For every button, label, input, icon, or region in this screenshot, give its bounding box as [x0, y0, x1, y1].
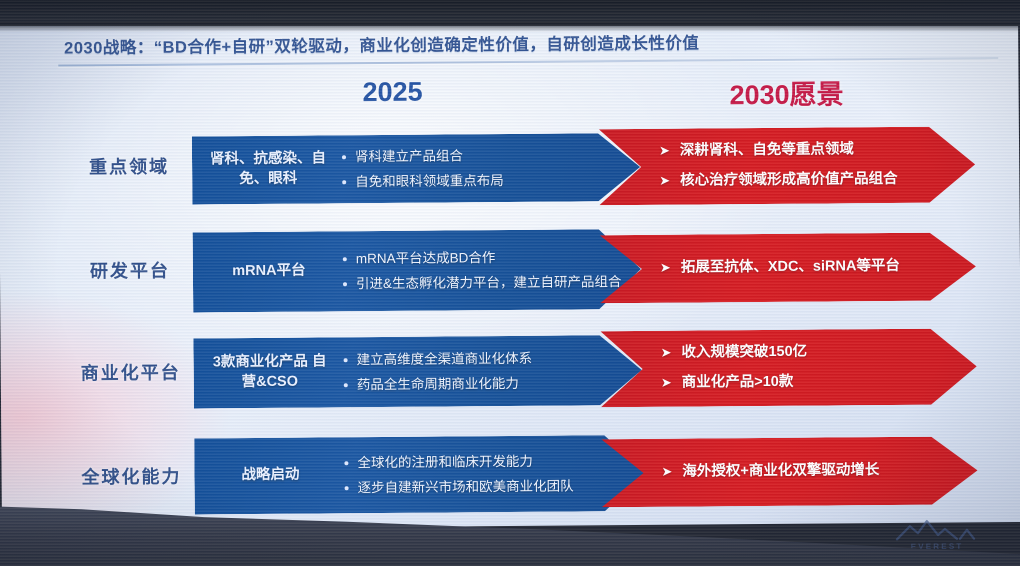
vision-text: 深耕肾科、自免等重点领域 [680, 140, 854, 163]
vision-item: ➤ 拓展至抗体、XDC、siRNA等平台 [660, 255, 976, 279]
arrow-right-icon: ➤ [661, 462, 672, 482]
bullet-item: mRNA平台达成BD合作 [343, 247, 633, 269]
bullet-dot-icon [343, 282, 347, 286]
vision-item: ➤ 核心治疗领域形成高价值产品组合 [659, 168, 975, 192]
red-bar-2030-row2: ➤ 拓展至抗体、XDC、siRNA等平台 [600, 232, 977, 303]
bullet-dot-icon [342, 180, 346, 184]
table-row: 全球化能力 战略启动 全球化的注册和临床开发能力 逐步自建新兴市场和欧美商业化团… [1, 420, 1020, 522]
vision-item: ➤ 海外授权+商业化双擎驱动增长 [661, 459, 977, 483]
vision-text: 收入规模突破150亿 [681, 342, 807, 365]
page-title: 2030战略：“BD合作+自研”双轮驱动，商业化创造确定性价值，自研创造成长性价… [64, 30, 699, 59]
table-row: 重点领域 肾科、抗感染、自免、眼科 肾科建立产品组合 自免和眼科领域重点布局 [0, 114, 1019, 210]
arrow-right-icon: ➤ [661, 373, 672, 393]
row-label-commercial-platform: 商业化平台 [56, 358, 206, 385]
vision-item: ➤ 收入规模突破150亿 [660, 341, 976, 365]
table-row: 研发平台 mRNA平台 mRNA平台达成BD合作 引进&生态孵化潜力平台，建立自… [0, 214, 1020, 314]
bullet-text: 全球化的注册和临床开发能力 [357, 452, 533, 473]
blue-bar-2025-row3: 3款商业化产品 自营&CSO 建立高维度全渠道商业化体系 药品全生命周期商业化能… [193, 335, 642, 409]
bullet-dot-icon [344, 461, 348, 465]
bullet-item: 自免和眼科领域重点布局 [342, 170, 632, 192]
bullet-dot-icon [344, 358, 348, 362]
blue-bar-2025-row2: mRNA平台 mRNA平台达成BD合作 引进&生态孵化潜力平台，建立自研产品组合 [193, 229, 642, 313]
bullet-text: 肾科建立产品组合 [355, 146, 463, 166]
tag-focus-areas: 肾科、抗感染、自免、眼科 [204, 150, 332, 190]
table-row: 商业化平台 3款商业化产品 自营&CSO 建立高维度全渠道商业化体系 药品全生命… [0, 318, 1020, 416]
bullet-item: 引进&生态孵化潜力平台，建立自研产品组合 [343, 272, 633, 294]
arrow-right-icon: ➤ [659, 141, 670, 161]
bullet-dot-icon [343, 257, 347, 261]
red-bar-2030-row3: ➤ 收入规模突破150亿 ➤ 商业化产品>10款 [600, 328, 977, 407]
red-bar-2030-row4: ➤ 海外授权+商业化双擎驱动增长 [601, 436, 978, 507]
vision-text: 拓展至抗体、XDC、siRNA等平台 [681, 256, 900, 279]
slide-photo: 2030战略：“BD合作+自研”双轮驱动，商业化创造确定性价值，自研创造成长性价… [0, 0, 1020, 566]
row-label-focus-areas: 重点领域 [54, 152, 204, 179]
bullet-item: 全球化的注册和临床开发能力 [344, 451, 638, 473]
bullet-text: 逐步自建新兴市场和欧美商业化团队 [358, 476, 574, 497]
vision-item: ➤ 商业化产品>10款 [661, 370, 977, 394]
arrow-right-icon: ➤ [659, 171, 670, 191]
blue-bar-2025-row1: 肾科、抗感染、自免、眼科 肾科建立产品组合 自免和眼科领域重点布局 [192, 133, 641, 205]
column-header-2030: 2030愿景 [729, 72, 843, 112]
vision-item: ➤ 深耕肾科、自免等重点领域 [659, 139, 975, 163]
bullet-item: 逐步自建新兴市场和欧美商业化团队 [345, 475, 639, 497]
bullet-text: 建立高维度全渠道商业化体系 [357, 349, 533, 370]
tag-globalization: 战略启动 [206, 466, 334, 487]
vision-text: 核心治疗领域形成高价值产品组合 [680, 169, 898, 192]
tag-rd-platform: mRNA平台 [205, 262, 333, 283]
bullet-item: 肾科建立产品组合 [342, 145, 632, 167]
arrow-right-icon: ➤ [660, 258, 671, 278]
blue-bar-2025-row4: 战略启动 全球化的注册和临床开发能力 逐步自建新兴市场和欧美商业化团队 [194, 435, 647, 515]
bullet-dot-icon [345, 486, 349, 490]
column-header-2025: 2025 [362, 77, 422, 108]
tag-commercial-platform: 3款商业化产品 自营&CSO [206, 353, 334, 393]
arrow-right-icon: ➤ [660, 343, 671, 363]
row-label-rd-platform: 研发平台 [55, 256, 205, 283]
bullet-dot-icon [344, 383, 348, 387]
bullet-text: 药品全生命周期商业化能力 [357, 373, 519, 394]
red-bar-2030-row1: ➤ 深耕肾科、自免等重点领域 ➤ 核心治疗领域形成高价值产品组合 [599, 126, 976, 205]
row-label-globalization: 全球化能力 [56, 462, 206, 489]
bullet-dot-icon [342, 155, 346, 159]
bullet-text: 自免和眼科领域重点布局 [355, 171, 504, 192]
slide-content: 2030战略：“BD合作+自研”双轮驱动，商业化创造确定性价值，自研创造成长性价… [0, 0, 1020, 566]
title-underline [58, 57, 998, 66]
bullet-item: 建立高维度全渠道商业化体系 [344, 348, 634, 370]
bullet-item: 药品全生命周期商业化能力 [344, 373, 634, 395]
vision-text: 商业化产品>10款 [682, 372, 794, 395]
bullet-text: 引进&生态孵化潜力平台，建立自研产品组合 [356, 272, 622, 294]
everest-mountain-icon [894, 519, 980, 542]
bullet-text: mRNA平台达成BD合作 [356, 248, 496, 269]
photo-top-edge [0, 0, 1020, 26]
vision-text: 海外授权+商业化双擎驱动增长 [682, 460, 879, 483]
